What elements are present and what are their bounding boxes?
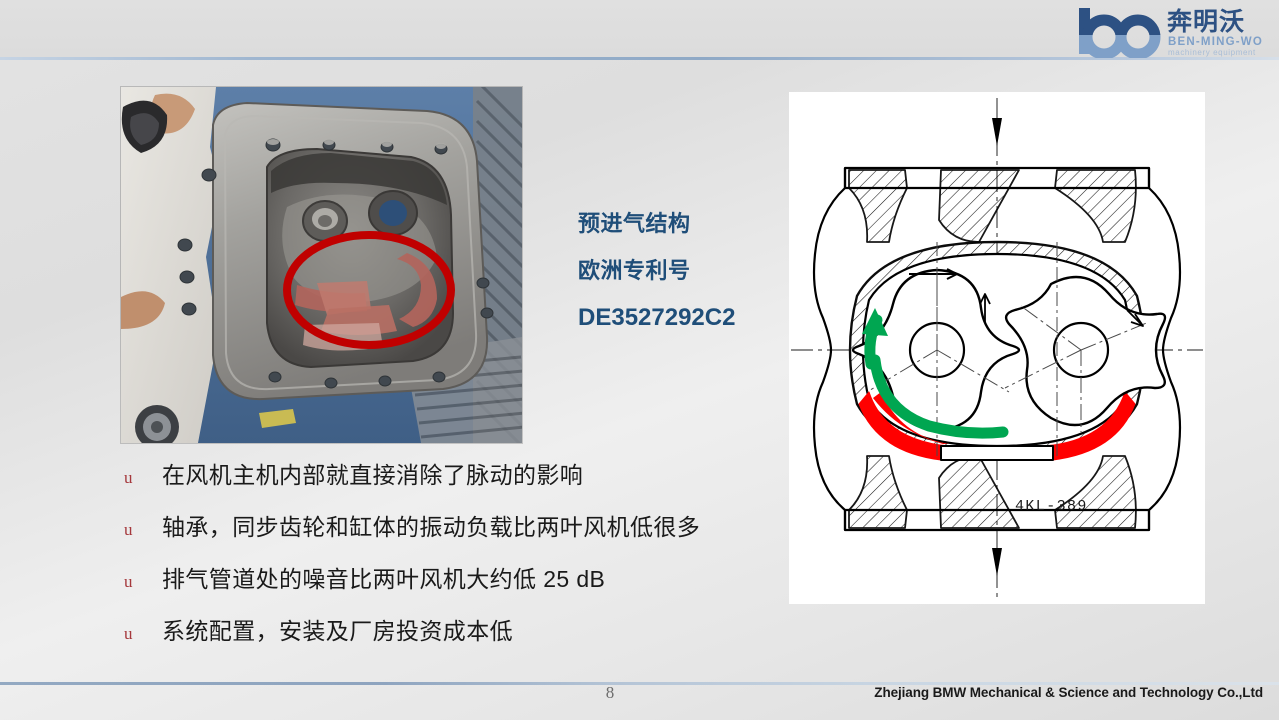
slide-canvas: 奔明沃 BEN-MING-WO machinery equipment xyxy=(0,0,1279,720)
page-number: 8 xyxy=(596,683,624,703)
diagram-part-label: 4KL-389 xyxy=(1015,498,1088,515)
tri-lobe-blower-diagram: 4KL-389 4KL-389 xyxy=(789,92,1205,604)
list-item: u 在风机主机内部就直接消除了脉动的影响 xyxy=(124,464,764,516)
bullet-marker-icon: u xyxy=(124,469,162,486)
svg-text:奔明沃: 奔明沃 xyxy=(1167,7,1245,36)
list-item: u 系统配置，安装及厂房投资成本低 xyxy=(124,620,764,672)
title-line-patent-label: 欧洲专利号 xyxy=(578,247,793,294)
blower-casing-photo xyxy=(121,87,522,443)
bullet-text: 在风机主机内部就直接消除了脉动的影响 xyxy=(162,464,583,487)
svg-text:machinery equipment: machinery equipment xyxy=(1168,48,1256,57)
bullet-marker-icon: u xyxy=(124,573,162,590)
list-item: u 排气管道处的噪音比两叶风机大约低 25 dB xyxy=(124,568,764,620)
svg-text:BEN-MING-WO: BEN-MING-WO xyxy=(1168,36,1263,48)
company-logo: 奔明沃 BEN-MING-WO machinery equipment xyxy=(1071,4,1267,58)
bullet-text: 排气管道处的噪音比两叶风机大约低 25 dB xyxy=(162,568,605,591)
footer-company-name: Zhejiang BMW Mechanical & Science and Te… xyxy=(874,685,1263,700)
bullet-text: 系统配置，安装及厂房投资成本低 xyxy=(162,620,513,643)
bullet-list: u 在风机主机内部就直接消除了脉动的影响 u 轴承，同步齿轮和缸体的振动负载比两… xyxy=(124,464,764,672)
patent-title-block: 预进气结构 欧洲专利号 DE3527292C2 xyxy=(578,200,793,341)
title-line-structure: 预进气结构 xyxy=(578,200,793,247)
title-line-patent-number: DE3527292C2 xyxy=(578,294,793,341)
bullet-text: 轴承，同步齿轮和缸体的振动负载比两叶风机低很多 xyxy=(162,516,700,539)
bullet-marker-icon: u xyxy=(124,521,162,538)
bullet-marker-icon: u xyxy=(124,625,162,642)
list-item: u 轴承，同步齿轮和缸体的振动负载比两叶风机低很多 xyxy=(124,516,764,568)
